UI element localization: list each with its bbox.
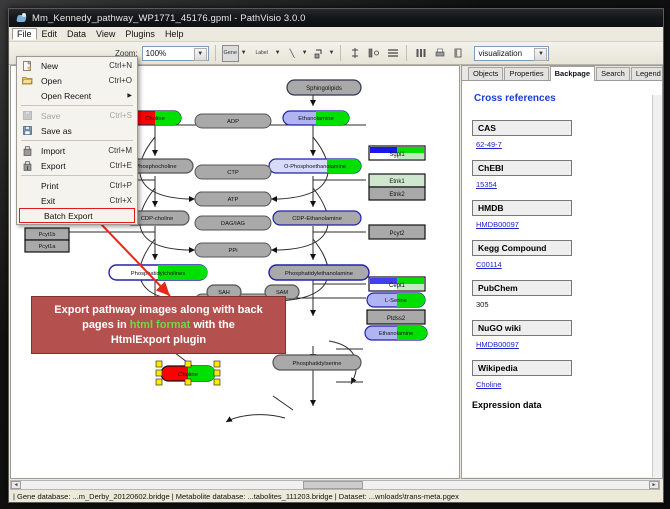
svg-text:CTP: CTP xyxy=(227,170,239,176)
menu-view[interactable]: View xyxy=(91,28,120,40)
xref-value-pubchem: 305 xyxy=(476,300,652,309)
label-tool-icon[interactable]: Label xyxy=(251,46,273,61)
blank-icon xyxy=(23,210,38,221)
save-icon xyxy=(20,110,35,121)
svg-text:Sphingolipids: Sphingolipids xyxy=(306,86,342,92)
align-tool-icon[interactable] xyxy=(347,46,362,61)
svg-text:Phosphatidylcholines: Phosphatidylcholines xyxy=(131,271,186,277)
print-tool-icon[interactable] xyxy=(432,46,447,61)
menu-plugins[interactable]: Plugins xyxy=(120,28,160,40)
tab-search[interactable]: Search xyxy=(596,67,630,80)
svg-text:Phosphocholine: Phosphocholine xyxy=(135,164,176,170)
toolbar-separator xyxy=(406,45,407,61)
panel-tabs: Objects Properties Backpage Search Legen… xyxy=(462,66,662,81)
menu-item-exit-label: Exit xyxy=(35,196,110,206)
window-title: Mm_Kennedy_pathway_WP1771_45176.gpml - P… xyxy=(32,13,306,24)
chevron-down-icon[interactable]: ▼ xyxy=(275,50,281,56)
menu-item-export-accel: Ctrl+E xyxy=(110,161,137,170)
visualization-combo[interactable]: visualization ▼ xyxy=(474,46,549,61)
xref-db-chebi: ChEBI xyxy=(472,160,572,176)
xref-value-chebi[interactable]: 15354 xyxy=(476,180,652,189)
xref-value-kegg[interactable]: C00114 xyxy=(476,260,652,269)
chevron-down-icon[interactable]: ▼ xyxy=(194,48,207,61)
chevron-down-icon[interactable]: ▼ xyxy=(329,50,335,56)
scroll-left-icon[interactable]: ◄ xyxy=(11,481,21,489)
menu-item-new[interactable]: New Ctrl+N xyxy=(17,58,137,73)
menu-item-batch-export-label: Batch Export xyxy=(38,211,134,221)
xref-link-wikipedia[interactable]: Choline xyxy=(476,380,501,389)
datanode-tool-icon[interactable]: Gene xyxy=(222,45,239,62)
status-bar: ◄ ► | Gene database: ...m_Derby_20120602… xyxy=(10,480,660,500)
tab-objects[interactable]: Objects xyxy=(468,67,503,80)
xref-value-cas[interactable]: 62-49-7 xyxy=(476,140,652,149)
menu-item-open-recent-label: Open Recent xyxy=(35,91,137,101)
callout-line2a: pages in xyxy=(82,319,130,331)
side-panel: Objects Properties Backpage Search Legen… xyxy=(461,65,663,479)
tab-legend[interactable]: Legend xyxy=(631,67,663,80)
svg-text:Ethanolamine: Ethanolamine xyxy=(379,331,413,337)
menu-item-open-label: Open xyxy=(35,76,109,86)
order-tool-icon[interactable] xyxy=(366,46,381,61)
cross-references-heading: Cross references xyxy=(474,93,652,104)
screenshot-root: Mm_Kennedy_pathway_WP1771_45176.gpml - P… xyxy=(0,0,670,509)
xref-db-pubchem: PubChem xyxy=(472,280,572,296)
menu-item-exit-accel: Ctrl+X xyxy=(110,196,137,205)
menu-item-export[interactable]: Export Ctrl+E xyxy=(17,158,137,173)
annotation-callout: Export pathway images along with back pa… xyxy=(31,296,286,354)
group-tool-icon[interactable] xyxy=(385,46,400,61)
xref-link-kegg[interactable]: C00114 xyxy=(476,260,502,269)
zoom-value: 100% xyxy=(146,49,166,58)
menu-item-import-label: Import xyxy=(35,146,108,156)
interaction-tool-icon[interactable] xyxy=(312,46,327,61)
zoom-combo[interactable]: 100% ▼ xyxy=(142,46,209,61)
svg-text:Choline: Choline xyxy=(178,372,198,378)
window-titlebar: Mm_Kennedy_pathway_WP1771_45176.gpml - P… xyxy=(9,9,663,27)
svg-text:Sgpl1: Sgpl1 xyxy=(389,152,405,158)
import-icon xyxy=(20,145,35,156)
svg-text:DAG/IAG: DAG/IAG xyxy=(221,221,246,227)
menu-item-open-accel: Ctrl+O xyxy=(109,76,137,85)
menu-item-save-as[interactable]: Save as xyxy=(17,123,137,138)
menu-item-open-recent[interactable]: Open Recent ▶ xyxy=(17,88,137,103)
sidebar-tool-icon[interactable] xyxy=(451,46,466,61)
file-menu-dropdown[interactable]: New Ctrl+N Open Ctrl+O Open Recent ▶ Sav… xyxy=(16,56,138,225)
svg-text:PPi: PPi xyxy=(228,248,237,254)
svg-text:Pcyt2: Pcyt2 xyxy=(389,231,405,237)
blank-icon xyxy=(20,195,35,206)
tab-backpage[interactable]: Backpage xyxy=(550,66,595,81)
svg-text:CDP-Ethanolamine: CDP-Ethanolamine xyxy=(292,216,342,222)
backpage-content: Cross references CAS 62-49-7 ChEBI 15354… xyxy=(462,81,662,477)
xref-link-cas[interactable]: 62-49-7 xyxy=(476,140,502,149)
xref-db-hmdb: HMDB xyxy=(472,200,572,216)
status-bar-text: | Gene database: ...m_Derby_20120602.bri… xyxy=(10,490,660,501)
svg-text:ADP: ADP xyxy=(227,119,239,125)
chevron-down-icon[interactable]: ▼ xyxy=(302,50,308,56)
menu-help[interactable]: Help xyxy=(160,28,189,40)
menu-item-save-accel: Ctrl+S xyxy=(110,111,137,120)
export-icon xyxy=(20,160,35,171)
menu-item-print-label: Print xyxy=(35,181,110,191)
expression-data-heading: Expression data xyxy=(472,400,652,410)
datanode-tool-label: Gene xyxy=(223,50,236,56)
save-as-icon xyxy=(20,125,35,136)
menu-data[interactable]: Data xyxy=(62,28,91,40)
svg-text:Choline: Choline xyxy=(145,116,165,122)
open-folder-icon xyxy=(20,75,35,86)
chevron-down-icon[interactable]: ▼ xyxy=(241,50,247,56)
toolbar-separator xyxy=(340,45,341,61)
label-tool-label: Label xyxy=(256,50,268,56)
menu-item-save-label: Save xyxy=(35,111,110,121)
callout-line2b: with the xyxy=(190,319,235,331)
svg-text:ATP: ATP xyxy=(228,197,239,203)
horizontal-scrollbar[interactable]: ◄ ► xyxy=(10,480,660,490)
chevron-down-icon[interactable]: ▼ xyxy=(534,48,547,61)
svg-text:Pcyt1b: Pcyt1b xyxy=(39,232,56,238)
scroll-right-icon[interactable]: ► xyxy=(649,481,659,489)
menu-item-save-as-label: Save as xyxy=(35,126,132,136)
blank-icon xyxy=(20,90,35,101)
new-file-icon xyxy=(20,60,35,71)
svg-text:Etnk1: Etnk1 xyxy=(389,179,405,185)
callout-text: Export pathway images along with back pa… xyxy=(48,303,268,348)
menu-item-print[interactable]: Print Ctrl+P xyxy=(17,178,137,193)
blank-icon xyxy=(20,180,35,191)
menu-item-export-label: Export xyxy=(35,161,110,171)
pathvisio-icon xyxy=(16,13,27,24)
svg-text:Ptdss2: Ptdss2 xyxy=(387,316,406,322)
menu-item-new-label: New xyxy=(35,61,109,71)
menu-item-batch-export[interactable]: Batch Export xyxy=(19,208,135,223)
svg-text:Phosphatidylserine: Phosphatidylserine xyxy=(293,361,342,367)
xref-value-wikipedia[interactable]: Choline xyxy=(476,380,652,389)
visualization-value: visualization xyxy=(478,49,522,58)
xref-value-nugo[interactable]: HMDB00097 xyxy=(476,340,652,349)
submenu-arrow-icon: ▶ xyxy=(127,92,132,99)
xref-link-hmdb[interactable]: HMDB00097 xyxy=(476,220,519,229)
callout-line1: Export pathway images along with back xyxy=(54,304,262,316)
tab-properties[interactable]: Properties xyxy=(504,67,548,80)
line-tool-icon[interactable]: ╲ xyxy=(285,46,300,61)
panel-scrollbar[interactable] xyxy=(652,95,662,477)
svg-text:O-Phosphoethanolamine: O-Phosphoethanolamine xyxy=(284,164,346,170)
menu-item-import[interactable]: Import Ctrl+M xyxy=(17,143,137,158)
menu-file[interactable]: File xyxy=(12,28,37,40)
callout-line3: HtmlExport plugin xyxy=(111,334,206,346)
scroll-thumb[interactable] xyxy=(303,481,363,489)
menu-separator xyxy=(21,175,133,176)
menu-item-print-accel: Ctrl+P xyxy=(110,181,137,190)
svg-text:CDP-choline: CDP-choline xyxy=(141,216,174,222)
xref-link-nugo[interactable]: HMDB00097 xyxy=(476,340,519,349)
xref-db-wikipedia: Wikipedia xyxy=(472,360,572,376)
menu-bar: File Edit Data View Plugins Help xyxy=(9,27,663,42)
xref-db-kegg: Kegg Compound xyxy=(472,240,572,256)
columns-tool-icon[interactable] xyxy=(413,46,428,61)
menu-separator xyxy=(21,105,133,106)
svg-text:Phosphatidylethanolamine: Phosphatidylethanolamine xyxy=(285,271,353,277)
xref-value-hmdb[interactable]: HMDB00097 xyxy=(476,220,652,229)
toolbar-separator xyxy=(215,45,216,61)
callout-highlight: html format xyxy=(130,319,191,331)
xref-link-chebi[interactable]: 15354 xyxy=(476,180,497,189)
menu-item-open[interactable]: Open Ctrl+O xyxy=(17,73,137,88)
pathvisio-window: Mm_Kennedy_pathway_WP1771_45176.gpml - P… xyxy=(8,8,664,503)
menu-item-import-accel: Ctrl+M xyxy=(108,146,137,155)
menu-separator xyxy=(21,140,133,141)
svg-text:Ethanolamine: Ethanolamine xyxy=(298,116,333,122)
svg-text:Cept1: Cept1 xyxy=(389,283,406,289)
menu-item-new-accel: Ctrl+N xyxy=(109,61,137,70)
menu-edit[interactable]: Edit xyxy=(37,28,63,40)
xref-db-nugo: NuGO wiki xyxy=(472,320,572,336)
svg-text:Etnk2: Etnk2 xyxy=(389,192,405,198)
menu-item-exit[interactable]: Exit Ctrl+X xyxy=(17,193,137,208)
svg-text:L-Serine: L-Serine xyxy=(385,298,407,304)
svg-text:Pcyt1a: Pcyt1a xyxy=(39,244,57,250)
xref-db-cas: CAS xyxy=(472,120,572,136)
menu-item-save: Save Ctrl+S xyxy=(17,108,137,123)
